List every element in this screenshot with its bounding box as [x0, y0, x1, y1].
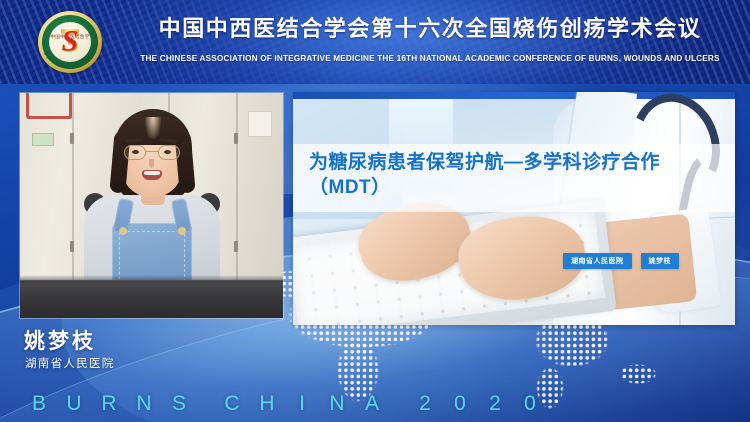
teeth [144, 171, 160, 175]
lens-left [124, 145, 146, 160]
presentation-slide-panel[interactable]: 为糖尿病患者保驾护航—多学科诊疗合作（MDT） 湖南省人民医院 姚梦枝 [293, 92, 735, 325]
conference-header-banner: CHINESE ASSOCIATION OF INTEGRATIVE MEDIC… [0, 0, 750, 84]
monitor-back-desk [20, 280, 283, 318]
mouth [142, 170, 162, 180]
speaker-name-caption: 姚梦枝 [24, 325, 96, 355]
door-hinge [70, 241, 74, 252]
door-hinge [70, 133, 74, 144]
glasses-bridge [146, 151, 158, 152]
slide-background-photo [293, 99, 735, 325]
speaker-organization-caption: 湖南省人民医院 [25, 355, 115, 371]
door-hinge [234, 241, 238, 252]
badge-presenter: 姚梦枝 [641, 253, 680, 269]
badge-organization: 湖南省人民医院 [563, 253, 632, 269]
logo-s-glyph: S [49, 26, 91, 56]
conference-title-cn: 中国中西医结合学会第十六次全国烧伤创疡学术会议 [120, 18, 740, 40]
logo-inner-disc: 中国中西医结合学会 S [49, 22, 91, 62]
speaker-figure [88, 107, 216, 293]
wall-green-note [32, 133, 54, 146]
overall-buckle-right [178, 227, 186, 235]
door-hinge [234, 133, 238, 144]
wall-red-frame [26, 93, 72, 119]
nose [149, 159, 154, 168]
slide-title-text: 为糖尿病患者保驾护航—多学科诊疗合作（MDT） [309, 150, 723, 200]
lens-right [158, 145, 180, 160]
speaker-video-panel[interactable] [20, 93, 283, 318]
association-logo-icon: CHINESE ASSOCIATION OF INTEGRATIVE MEDIC… [38, 11, 102, 73]
header-light-sheen [0, 0, 750, 84]
eyeglasses-icon [124, 145, 180, 160]
slide-credit-badges: 湖南省人民医院 姚梦枝 [563, 253, 723, 269]
overall-buckle-left [119, 227, 127, 235]
conference-broadcast-screen: CHINESE ASSOCIATION OF INTEGRATIVE MEDIC… [0, 0, 750, 422]
conference-subtitle-en: THE CHINESE ASSOCIATION OF INTEGRATIVE M… [120, 55, 740, 63]
wall-white-note [248, 111, 272, 137]
